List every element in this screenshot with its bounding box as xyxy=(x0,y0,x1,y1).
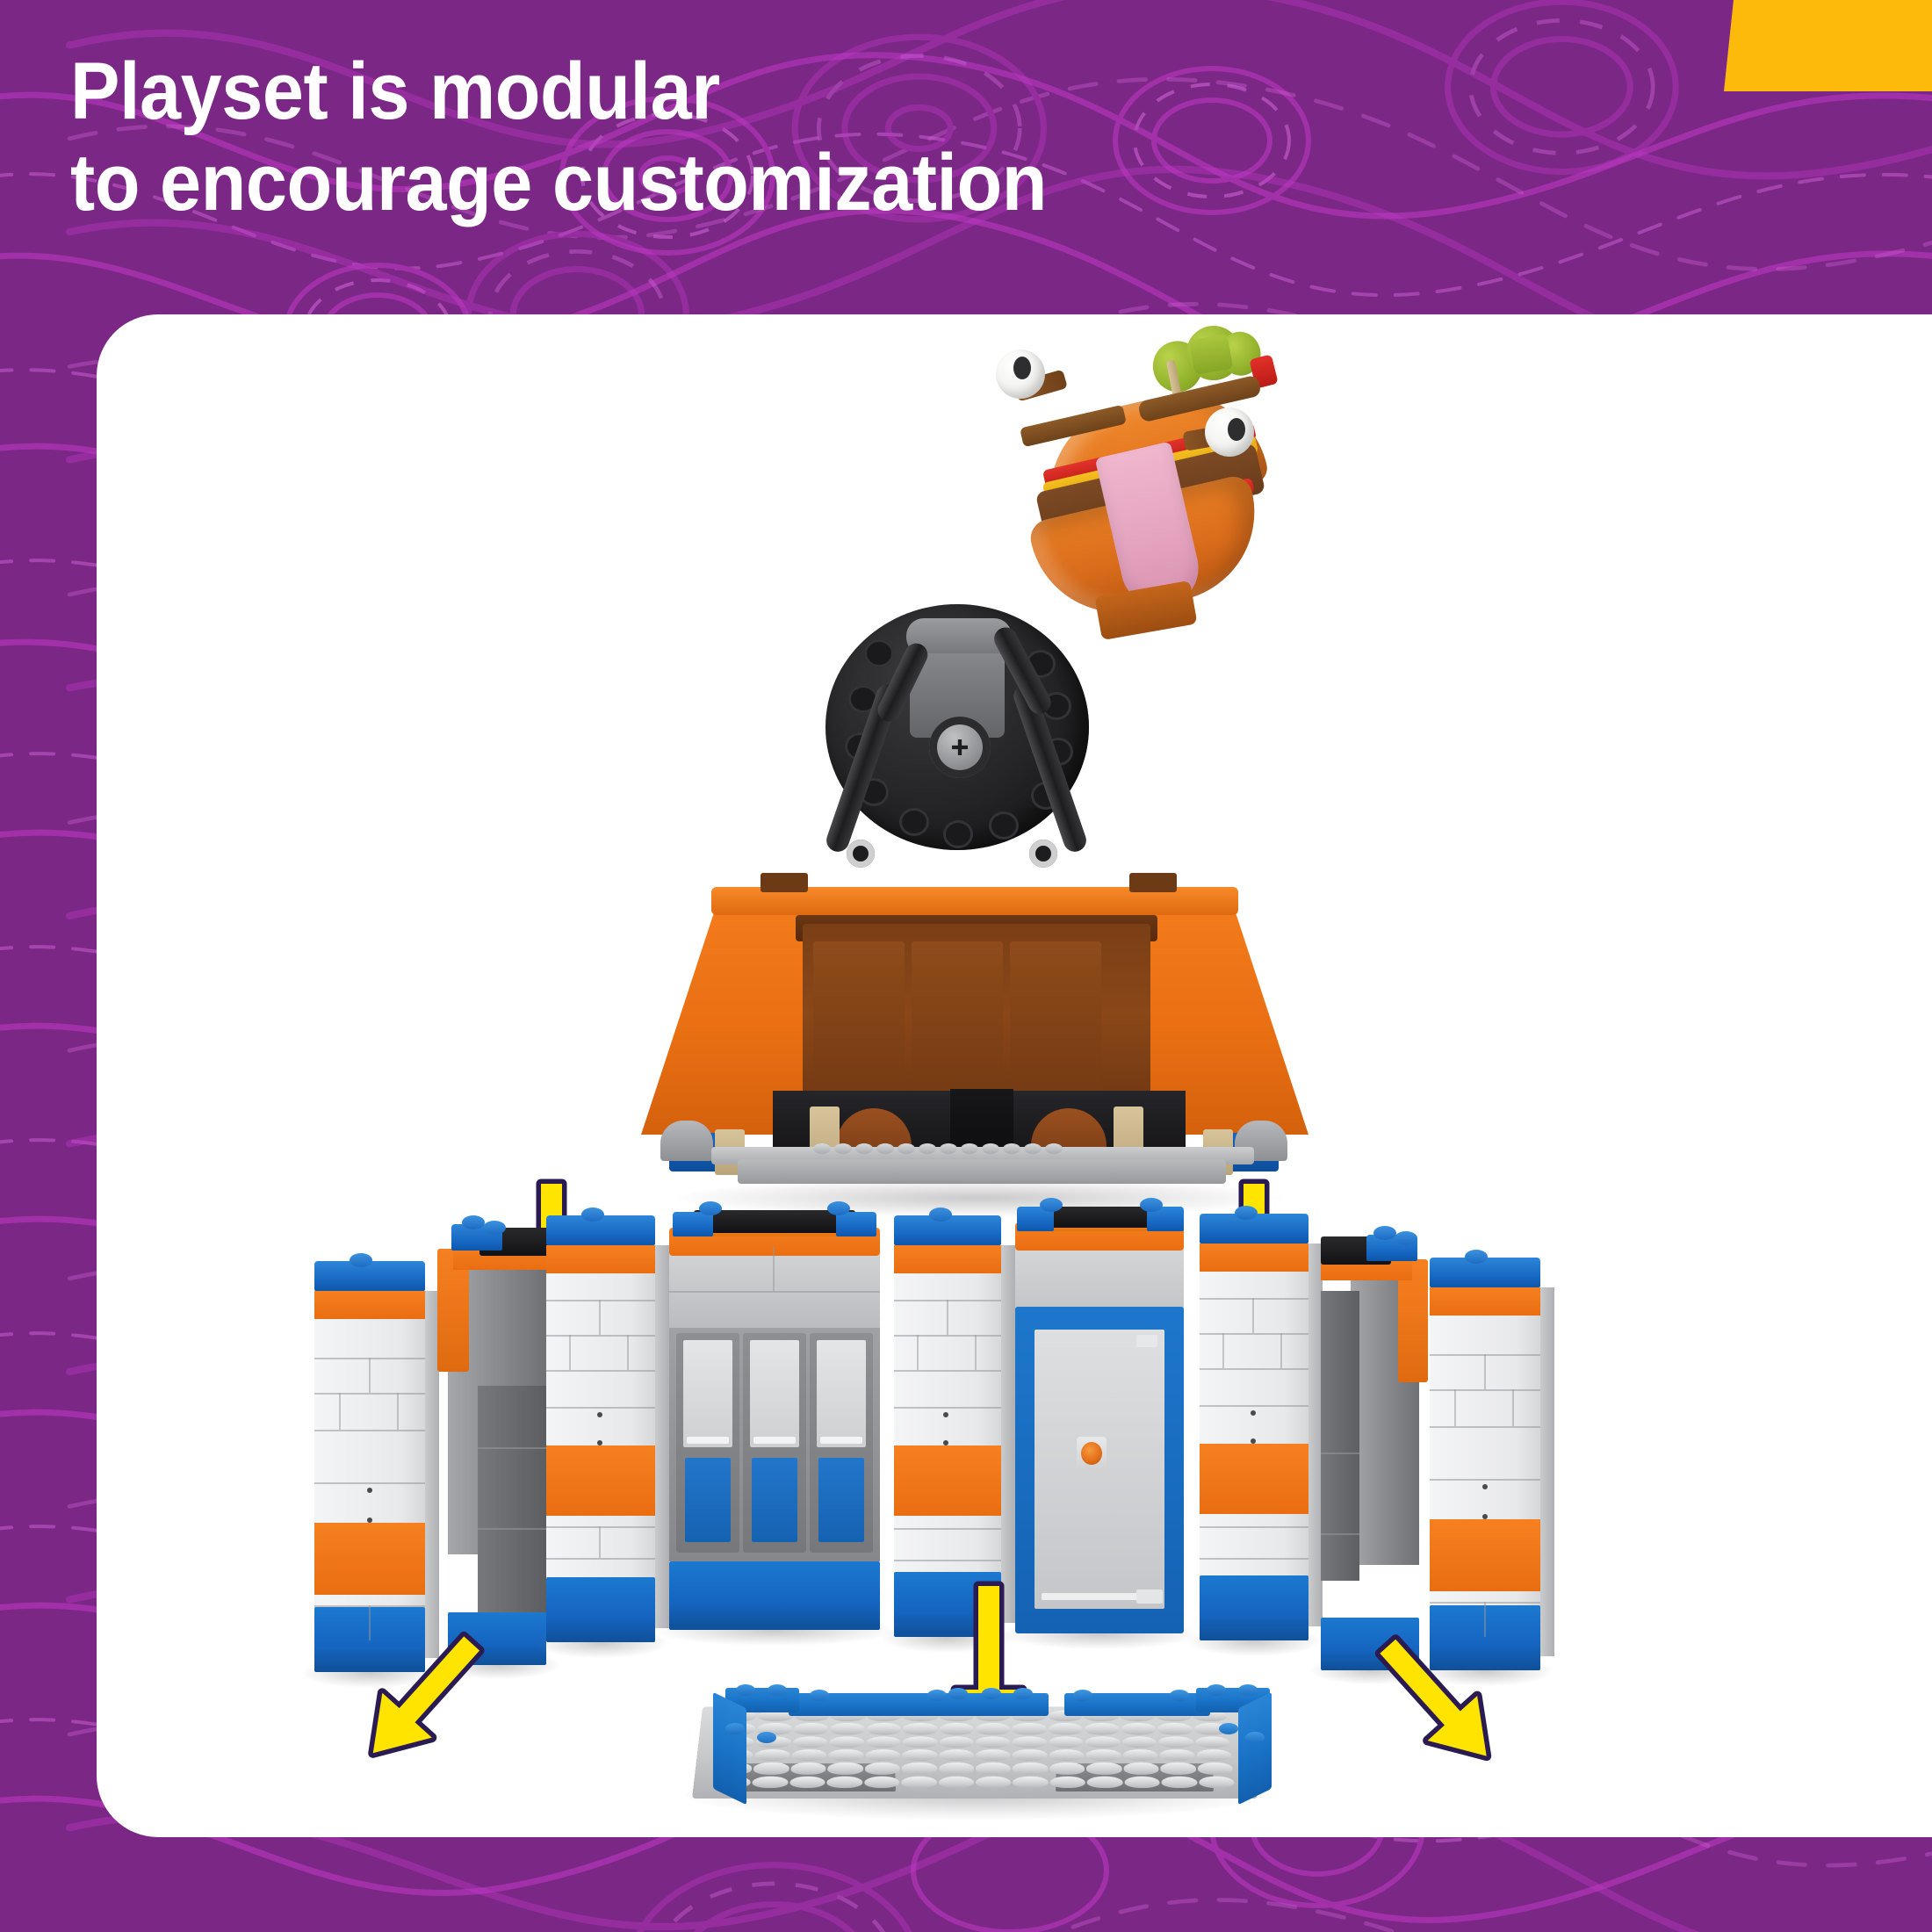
roof-grey-cap-left xyxy=(660,1121,713,1161)
sign-disc-module xyxy=(825,604,1115,876)
eye-left xyxy=(996,350,1045,399)
baseplate-stud-grid xyxy=(715,1711,1235,1788)
yellow-accent-band xyxy=(1724,0,1932,91)
baseplate-trim-right-side xyxy=(1238,1692,1272,1806)
door-handle-icon xyxy=(1077,1437,1107,1472)
product-marketing-image: Playset is modular to encourage customiz… xyxy=(0,0,1932,1932)
roof-floor-plate xyxy=(738,1159,1226,1184)
wall-plain-center xyxy=(894,1215,1001,1637)
wall-corner-left-grey xyxy=(448,1228,546,1665)
eye-right xyxy=(1205,407,1254,457)
foot-left xyxy=(847,840,875,868)
baseplate-trim-left-side xyxy=(713,1692,746,1806)
wall-plain-right-outer xyxy=(1430,1258,1540,1670)
wall-plain-right-inner xyxy=(1200,1214,1308,1640)
wall-plain-left-outer xyxy=(314,1261,425,1672)
wall-door-module xyxy=(1015,1207,1184,1633)
baseplate-module xyxy=(676,1658,1291,1837)
foot-right xyxy=(1029,840,1057,868)
product-photo-card xyxy=(97,314,1932,1837)
wall-window-module xyxy=(669,1210,880,1630)
wall-plain-left-inner xyxy=(546,1215,655,1642)
technic-hub xyxy=(929,717,991,778)
roof-module xyxy=(641,869,1308,1186)
headline-banner: Playset is modular to encourage customiz… xyxy=(0,0,1633,299)
roof-stud-row xyxy=(813,1143,1063,1154)
page-title: Playset is modular to encourage customiz… xyxy=(70,46,1460,228)
wall-corner-right-grey xyxy=(1321,1233,1419,1670)
